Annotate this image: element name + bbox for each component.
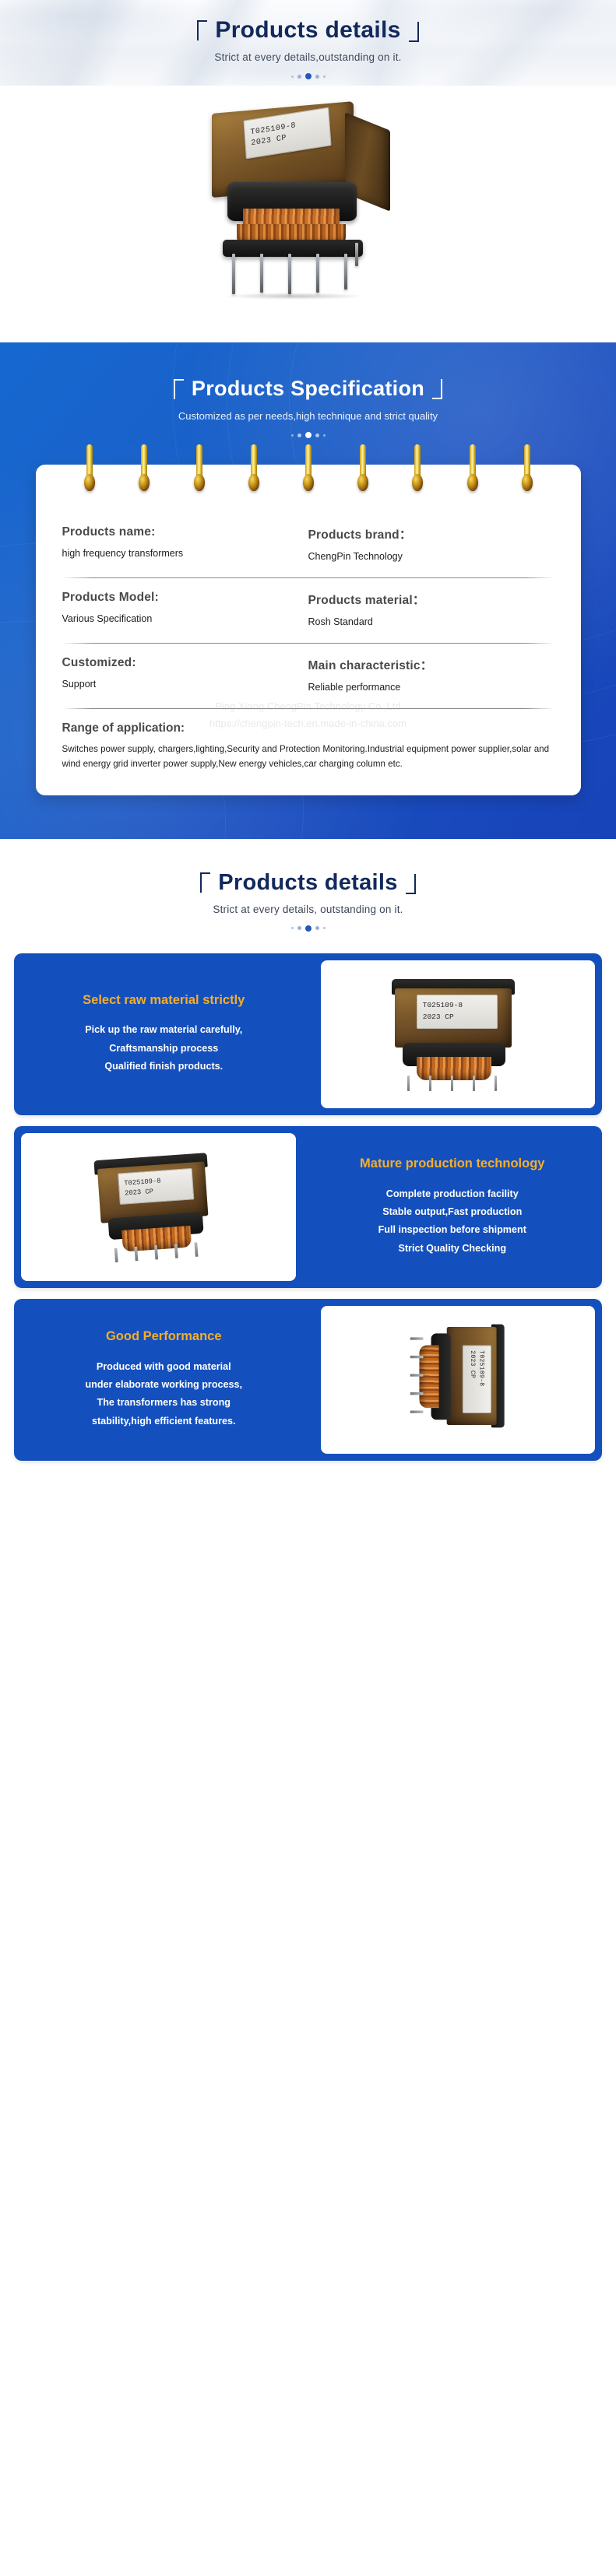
hero-subtitle: Strict at every details,outstanding on i… [214,51,401,63]
feature-body-line: Pick up the raw material carefully, [85,1021,242,1039]
feature-image: T025109-8 2023 CP [321,1306,596,1454]
spec-value: ChengPin Technology [308,551,554,562]
feature-body-line: Craftsmanship process [85,1040,242,1058]
pin [355,243,358,266]
hero-title-text: Products details [215,19,400,42]
feature-title: Good Performance [106,1328,222,1345]
spec-cell-left: Products Model: Various Specification [62,591,308,627]
feature-cards: Select raw material strictly Pick up the… [0,946,616,1481]
feature-text-pane: Mature production technology Complete pr… [303,1126,603,1288]
spec-value: Rosh Standard [308,616,554,627]
dot-separator [291,73,326,79]
feature-title: Mature production technology [360,1156,544,1172]
pin [260,254,263,293]
dot-large-center [305,73,312,79]
bracket-left-icon [200,872,210,893]
details-title: Products details [200,872,415,894]
feature-text-pane: Select raw material strictly Pick up the… [14,953,314,1115]
binding-ring [139,444,149,493]
specification-subtitle: Customized as per needs,high technique a… [178,410,438,422]
binding-ring [248,444,259,493]
product-label-line1: T025109-8 [477,1350,486,1413]
pin [135,1246,138,1261]
feature-body-line: Qualified finish products. [85,1058,242,1076]
dot-medium-left [297,433,301,437]
feature-body-line: Produced with good material [85,1358,242,1376]
bracket-right-icon [409,22,419,42]
feature-card[interactable]: Select raw material strictly Pick up the… [14,953,602,1115]
spec-cell-left: Customized: Support [62,656,308,693]
specification-section: Products Specification Customized as per… [0,342,616,839]
spec-cell-right: Products material： Rosh Standard [308,591,554,627]
feature-body-line: The transformers has strong [85,1394,242,1412]
pin [410,1392,423,1395]
product-label: T025109-8 2023 CP [118,1167,194,1204]
spec-value: high frequency transformers [62,548,308,559]
dot-small-right [323,927,326,929]
spec-label: Customized: [62,656,308,670]
range-of-application-body: Switches power supply, chargers,lighting… [62,742,554,772]
product-label: T025109-8 2023 CP [463,1345,491,1413]
binding-ring [522,444,532,493]
drop-shadow [223,293,366,300]
product-photo-block: T025109-8 2023 CP [0,86,616,342]
pin [410,1374,423,1376]
dot-medium-left [297,75,301,79]
pin [410,1355,423,1357]
feature-card[interactable]: Good Performance Produced with good mate… [14,1299,602,1461]
feature-body: Produced with good material under elabor… [85,1358,242,1430]
pin [154,1245,157,1260]
spec-cell-left: Products name: high frequency transforme… [62,525,308,562]
specification-notepad: Ping Xiang ChengPin Technology Co.,Ltd h… [36,465,581,795]
details-section: Products details Strict at every details… [0,839,616,946]
spec-row: Products Model: Various Specification Pr… [62,578,554,643]
binding-ring [303,444,313,493]
spec-row: Customized: Support Main characteristic：… [62,644,554,708]
dot-small-left [291,434,294,437]
spiral-binding [36,444,581,493]
dot-small-left [291,927,294,929]
spec-label: Products Model: [62,591,308,605]
bracket-right-icon [432,379,442,399]
pin [344,254,347,290]
feature-image: T025109-8 2023 CP [21,1133,296,1281]
feature-body-line: Stable output,Fast production [378,1203,526,1221]
pin [114,1248,118,1262]
dot-medium-right [315,926,319,930]
transformer-illustration: T025109-8 2023 CP [409,1311,507,1448]
feature-body-line: Strict Quality Checking [378,1240,526,1258]
pin [195,1242,198,1257]
pin [410,1337,423,1339]
product-label-line1: T025109-8 [423,1000,497,1011]
transformer-pins [404,1076,505,1093]
binding-ring [194,444,204,493]
spec-value: Reliable performance [308,682,554,693]
range-of-application-title: Range of application: [62,721,554,735]
dot-medium-left [297,926,301,930]
pin [451,1076,454,1091]
dot-small-left [291,75,294,78]
transformer-pins [409,1335,423,1420]
bracket-left-icon [197,20,207,40]
product-photo: T025109-8 2023 CP [145,97,472,322]
pin [473,1076,476,1091]
pin [429,1076,432,1091]
dot-separator [291,925,326,932]
spec-cell-right: Products brand： ChengPin Technology [308,525,554,562]
spec-value: Various Specification [62,613,308,624]
dot-small-right [323,434,326,437]
feature-title: Select raw material strictly [83,992,245,1009]
feature-body-line: stability,high efficient features. [85,1413,242,1430]
pin [495,1076,498,1091]
hero-banner: Products details Strict at every details… [0,0,616,86]
dot-small-right [323,75,326,78]
pin [232,254,235,294]
pin [174,1244,178,1258]
specification-title-text: Products Specification [192,378,424,399]
spec-label: Products brand： [308,525,554,542]
feature-body: Pick up the raw material carefully, Craf… [85,1021,242,1076]
product-label: T025109-8 2023 CP [417,995,498,1029]
page-title: Products details [197,19,418,42]
feature-body-line: Full inspection before shipment [378,1221,526,1239]
dot-medium-right [315,75,319,79]
transformer-illustration: T025109-8 2023 CP [192,101,425,296]
spec-row: Products name: high frequency transforme… [62,513,554,577]
transformer-illustration: T025109-8 2023 CP [376,976,540,1093]
spec-label: Main characteristic： [308,656,554,673]
notepad-card: Ping Xiang ChengPin Technology Co.,Ltd h… [36,465,581,795]
binding-ring [84,444,94,493]
feature-body-line: Complete production facility [378,1185,526,1203]
bracket-right-icon [406,874,416,894]
details-title-text: Products details [218,872,397,894]
feature-text-pane: Good Performance Produced with good mate… [14,1299,314,1461]
feature-body-line: under elaborate working process, [85,1376,242,1394]
transformer-illustration: T025109-8 2023 CP [79,1148,237,1265]
product-label-line2: 2023 CP [467,1350,477,1413]
binding-ring [467,444,477,493]
details-subtitle: Strict at every details, outstanding on … [213,904,403,915]
pin [407,1076,410,1091]
pin [316,254,319,293]
spec-cell-right: Main characteristic： Reliable performanc… [308,656,554,693]
spec-label: Products name: [62,525,308,539]
spec-label: Products material： [308,591,554,608]
dot-separator [291,432,326,438]
feature-image: T025109-8 2023 CP [321,960,596,1108]
dot-large-center [305,925,312,932]
binding-ring [412,444,422,493]
dot-large-center [305,432,312,438]
transformer-pins [226,254,363,297]
bracket-left-icon [174,379,184,399]
specification-title: Products Specification [174,378,442,399]
binding-ring [357,444,368,493]
divider [62,708,554,709]
spec-value: Support [62,679,308,690]
feature-card[interactable]: Mature production technology Complete pr… [14,1126,602,1288]
product-label-line2: 2023 CP [423,1012,497,1023]
pin [288,254,291,294]
feature-body: Complete production facility Stable outp… [378,1185,526,1258]
dot-medium-right [315,433,319,437]
pin [410,1410,423,1413]
